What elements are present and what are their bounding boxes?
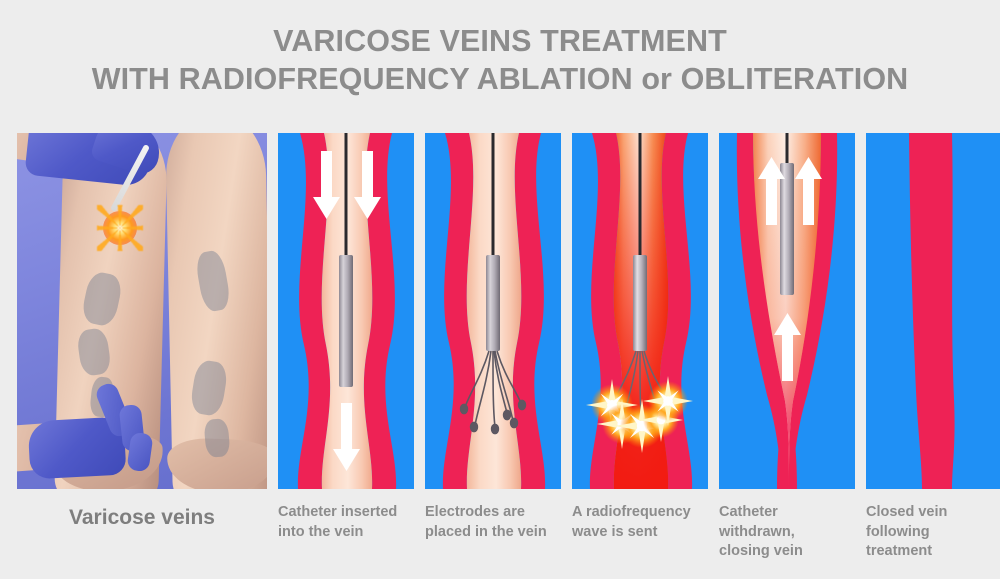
photo-canvas xyxy=(17,133,267,489)
caption-line: Closed vein xyxy=(866,503,1000,523)
caption-line: placed in the vein xyxy=(425,523,561,543)
panel-row xyxy=(17,133,983,489)
infographic-root: VARICOSE VEINS TREATMENT WITH RADIOFREQU… xyxy=(0,0,1000,579)
caption-electrodes-placed: Electrodes are placed in the vein xyxy=(425,503,561,575)
panel-varicose-veins-photo xyxy=(17,133,267,489)
title-line-1: VARICOSE VEINS TREATMENT xyxy=(0,22,1000,60)
caption-line: closing vein xyxy=(719,542,855,562)
caption-line: following xyxy=(866,523,1000,543)
vein-diagram-closed xyxy=(866,133,1000,489)
panel-radiofrequency-wave xyxy=(572,133,708,489)
panel-catheter-withdrawn xyxy=(719,133,855,489)
vein-diagram-electrodes xyxy=(425,133,561,489)
caption-catheter-inserted: Catheter inserted into the vein xyxy=(278,503,414,575)
panel-catheter-inserted xyxy=(278,133,414,489)
caption-varicose-veins: Varicose veins xyxy=(17,503,267,575)
panel-electrodes-placed xyxy=(425,133,561,489)
caption-line: Catheter inserted xyxy=(278,503,414,523)
caption-line: treatment xyxy=(866,542,1000,562)
caption-line: into the vein xyxy=(278,523,414,543)
caption-line: wave is sent xyxy=(572,523,708,543)
caption-line: Electrodes are xyxy=(425,503,561,523)
vein-diagram-rf-wave xyxy=(572,133,708,489)
vein-diagram-closing xyxy=(719,133,855,489)
caption-row: Varicose veins Catheter inserted into th… xyxy=(17,503,983,575)
caption-line: Catheter withdrawn, xyxy=(719,503,855,542)
page-title: VARICOSE VEINS TREATMENT WITH RADIOFREQU… xyxy=(0,22,1000,98)
caption-radiofrequency-wave: A radiofrequency wave is sent xyxy=(572,503,708,575)
caption-catheter-withdrawn: Catheter withdrawn, closing vein xyxy=(719,503,855,575)
title-line-2: WITH RADIOFREQUENCY ABLATION or OBLITERA… xyxy=(0,60,1000,98)
panel-closed-vein xyxy=(866,133,1000,489)
title-line-2-part-1: WITH RADIOFREQUENCY ABLATION xyxy=(92,62,642,96)
title-line-2-part-2: OBLITERATION xyxy=(672,62,908,96)
caption-line: A radiofrequency xyxy=(572,503,708,523)
vein-diagram-catheter-inserted xyxy=(278,133,414,489)
caption-closed-vein: Closed vein following treatment xyxy=(866,503,1000,575)
treatment-spark-glow xyxy=(103,211,137,245)
title-line-2-conjunction: or xyxy=(641,62,672,96)
